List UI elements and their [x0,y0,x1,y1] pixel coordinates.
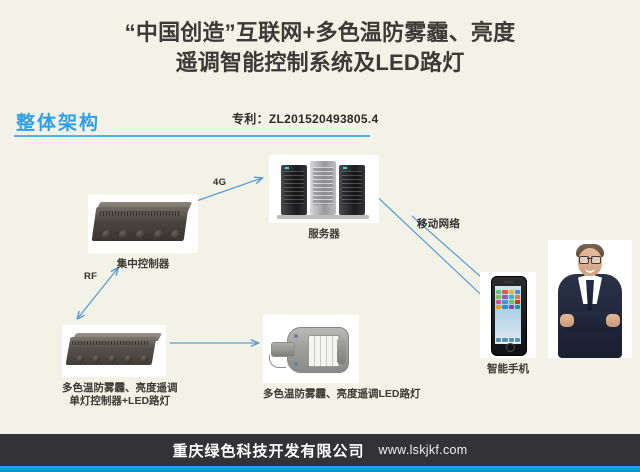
footer-bar: 重庆绿色科技开发有限公司 www.lskjkf.com [0,434,640,472]
section-divider [14,135,370,137]
server-tower-icon [269,155,379,223]
node-smartphone[interactable]: 智能手机 [480,272,536,376]
controller-box-icon [88,195,198,253]
single-lamp-controller-icon [62,325,166,377]
page-title-line1: “中国创造”互联网+多色温防雾霾、亮度 [125,20,516,45]
footer-accent-strip [0,466,640,472]
led-street-lamp-icon [263,315,359,383]
section-title: 整体架构 [16,108,100,135]
connector-label-mobile-network: 移动网络 [417,216,460,231]
footer-website-url[interactable]: www.lskjkf.com [379,443,468,457]
smartphone-label: 智能手机 [480,363,536,376]
lamp-controller-label: 多色温防雾霾、亮度遥调 单灯控制器+LED路灯 [62,382,178,408]
footer-company-name: 重庆绿色科技开发有限公司 [173,440,365,461]
connector-server-phone [370,190,492,305]
node-single-lamp-controller[interactable]: 多色温防雾霾、亮度遥调 单灯控制器+LED路灯 [62,325,178,408]
patent-number: 专利：ZL201520493805.4 [232,110,378,127]
street-lamp-label: 多色温防雾霾、亮度遥调LED路灯 [263,388,421,401]
lamp-controller-label-line1: 多色温防雾霾、亮度遥调 [62,382,178,395]
slide-canvas: “中国创造”互联网+多色温防雾霾、亮度 遥调智能控制系统及LED路灯 整体架构 … [0,0,640,472]
node-centralized-controller[interactable]: 集中控制器 [88,195,198,271]
node-server[interactable]: 服务器 [269,155,379,241]
node-led-street-lamp[interactable]: 多色温防雾霾、亮度遥调LED路灯 [263,315,421,401]
page-title-line2: 遥调智能控制系统及LED路灯 [0,48,640,78]
server-label: 服务器 [269,228,379,241]
connector-label-4g: 4G [213,177,226,188]
controller-label: 集中控制器 [88,258,198,271]
businessman-photo [548,240,632,358]
lamp-controller-label-line2: 单灯控制器+LED路灯 [62,395,178,408]
smartphone-icon [480,272,536,358]
page-title: “中国创造”互联网+多色温防雾霾、亮度 遥调智能控制系统及LED路灯 [0,18,640,78]
connector-label-rf: RF [84,271,97,282]
